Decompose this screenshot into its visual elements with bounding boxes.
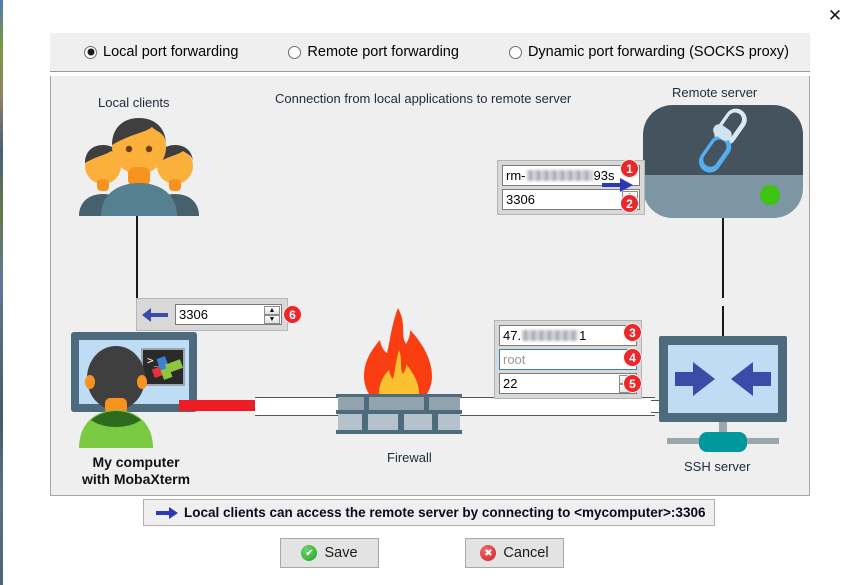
cancel-button-label: Cancel <box>503 545 548 561</box>
ssh-host-value-prefix: 47. <box>503 328 521 343</box>
forwarded-port-value: 3306 <box>179 307 208 322</box>
radio-label-local: Local port forwarding <box>103 44 238 60</box>
wire-clients-to-computer <box>136 216 138 306</box>
window-edge-accent-strip <box>0 0 3 585</box>
forwarded-port-stepper[interactable]: ▲ ▼ <box>264 306 280 323</box>
forwarding-diagram-panel: Local clients Connection from local appl… <box>50 76 810 496</box>
ssh-port-input[interactable]: 22 ▲ ▼ <box>499 373 637 394</box>
label-my-computer-line1: My computer <box>71 454 201 470</box>
stepper-up-icon[interactable]: ▲ <box>264 306 280 315</box>
remote-port-value: 3306 <box>506 192 535 207</box>
desktop-user-icon: >_ <box>69 330 199 448</box>
badge-3: 3 <box>623 323 642 342</box>
badge-6: 6 <box>283 305 302 324</box>
label-firewall: Firewall <box>387 450 432 465</box>
status-bar: Local clients can access the remote serv… <box>143 499 715 526</box>
save-button-label: Save <box>324 545 357 561</box>
arrow-right-icon <box>156 506 178 520</box>
firewall-flame-icon <box>334 304 464 444</box>
arrow-left-icon <box>142 307 168 323</box>
remote-host-value-prefix: rm- <box>506 168 526 183</box>
badge-5: 5 <box>623 374 642 393</box>
check-circle-icon: ✔ <box>301 545 317 561</box>
close-icon[interactable]: ✕ <box>821 3 849 29</box>
arrow-right-icon <box>602 175 634 195</box>
ssh-host-value-suffix: 1 <box>579 328 586 343</box>
server-link-icon <box>643 105 803 218</box>
ssh-port-value: 22 <box>503 376 517 391</box>
ssh-server-icon <box>657 334 789 459</box>
ssh-login-input[interactable]: root <box>499 349 637 370</box>
status-text: Local clients can access the remote serv… <box>184 505 705 520</box>
label-my-computer-line2: with MobaXterm <box>71 471 201 487</box>
radio-label-dynamic: Dynamic port forwarding (SOCKS proxy) <box>528 44 789 60</box>
radio-button-icon[interactable] <box>84 46 97 59</box>
radio-button-icon[interactable] <box>509 46 522 59</box>
save-button[interactable]: ✔ Save <box>280 538 379 568</box>
cable-red-segment <box>179 400 255 411</box>
radio-dynamic-port-forwarding[interactable]: Dynamic port forwarding (SOCKS proxy) <box>509 44 789 60</box>
label-ssh-server: SSH server <box>684 459 750 474</box>
radio-remote-port-forwarding[interactable]: Remote port forwarding <box>288 44 459 60</box>
badge-2: 2 <box>620 194 639 213</box>
ssh-login-placeholder: root <box>503 352 525 367</box>
forwarded-port-field-group: 3306 ▲ ▼ <box>136 298 288 331</box>
people-group-icon <box>71 103 207 218</box>
badge-4: 4 <box>623 348 642 367</box>
forwarded-port-input[interactable]: 3306 ▲ ▼ <box>175 304 282 325</box>
ssh-server-field-group: 47.1 root 22 ▲ ▼ <box>494 320 642 399</box>
diagram-title: Connection from local applications to re… <box>275 91 571 106</box>
redacted-ip-text <box>522 330 578 341</box>
forwarding-mode-selector: Local port forwarding Remote port forwar… <box>50 33 810 72</box>
cross-circle-icon: ✖ <box>480 545 496 561</box>
wire-remote-to-ssh <box>722 218 724 298</box>
stepper-down-icon[interactable]: ▼ <box>264 315 280 324</box>
ssh-host-input[interactable]: 47.1 <box>499 325 637 346</box>
radio-local-port-forwarding[interactable]: Local port forwarding <box>84 44 238 60</box>
redacted-host-text <box>527 170 593 181</box>
cancel-button[interactable]: ✖ Cancel <box>465 538 564 568</box>
label-remote-server: Remote server <box>672 85 757 100</box>
radio-label-remote: Remote port forwarding <box>307 44 459 60</box>
radio-button-icon[interactable] <box>288 46 301 59</box>
